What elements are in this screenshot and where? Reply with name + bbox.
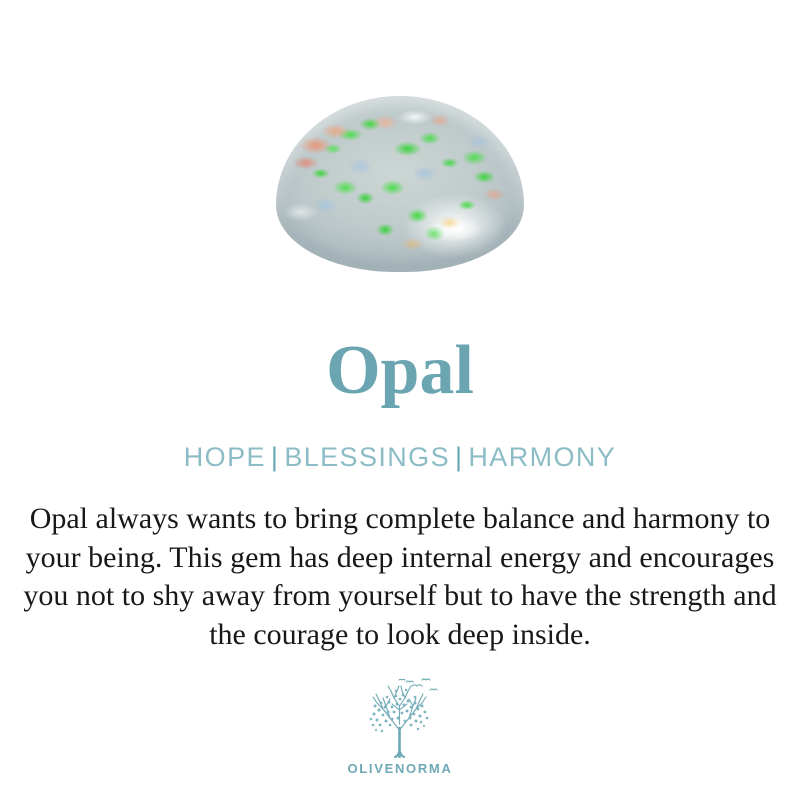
- keyword-list: HOPE|BLESSINGS|HARMONY: [0, 444, 800, 471]
- gemstone-image-area: [0, 96, 800, 288]
- keyword-separator-1: |: [266, 442, 284, 472]
- keyword-hope: HOPE: [184, 442, 266, 472]
- gemstone-description: Opal always wants to bring complete bala…: [14, 500, 786, 654]
- keyword-separator-2: |: [450, 442, 468, 472]
- keyword-blessings: BLESSINGS: [284, 442, 450, 472]
- brand-wordmark: OLIVENORMA: [347, 761, 452, 776]
- opal-cabochon-icon: [276, 96, 524, 272]
- gemstone-image-wrapper: [276, 96, 524, 272]
- brand-logo: OLIVENORMA: [0, 676, 800, 776]
- keyword-harmony: HARMONY: [468, 442, 616, 472]
- olive-tree-icon: [352, 676, 448, 758]
- page-title: Opal: [0, 336, 800, 406]
- gemstone-info-card: Opal HOPE|BLESSINGS|HARMONY Opal always …: [0, 0, 800, 800]
